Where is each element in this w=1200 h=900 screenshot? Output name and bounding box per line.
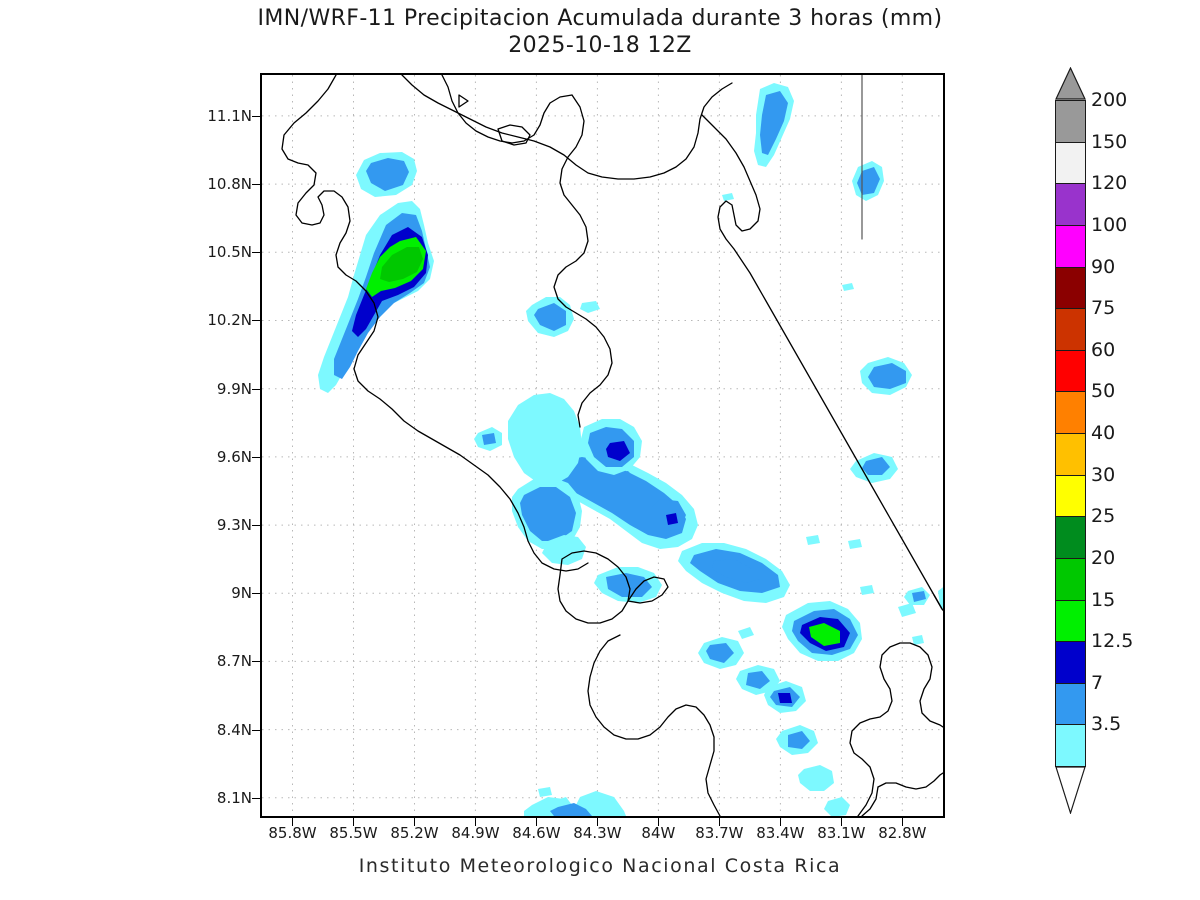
colorbar-band[interactable] — [1055, 225, 1086, 268]
y-axis-tick-label: 8.4N — [217, 721, 252, 739]
colorbar-band[interactable] — [1055, 308, 1086, 351]
precipitation-contours — [318, 83, 943, 816]
chart-title-block: IMN/WRF-11 Precipitacion Acumulada duran… — [0, 6, 1200, 58]
x-axis-tick-label: 83.7W — [695, 824, 743, 842]
colorbar-tick-label: 100 — [1091, 214, 1127, 236]
colorbar-band[interactable] — [1055, 683, 1086, 726]
colorbar-tick-label: 200 — [1091, 89, 1127, 111]
colorbar-band[interactable] — [1055, 142, 1086, 185]
y-axis-tick-mark — [252, 320, 260, 321]
y-axis-tick-mark — [252, 116, 260, 117]
y-axis-tick-mark — [252, 593, 260, 594]
colorbar-band[interactable] — [1055, 350, 1086, 393]
x-axis-tick-label: 84.9W — [451, 824, 499, 842]
y-axis-tick-mark — [252, 661, 260, 662]
source-attribution: Instituto Meteorologico Nacional Costa R… — [0, 855, 1200, 877]
colorbar-tick-label: 7 — [1091, 672, 1103, 694]
x-axis-tick-label: 85.2W — [390, 824, 438, 842]
colorbar-tick-label: 30 — [1091, 464, 1115, 486]
colorbar-tick-label: 90 — [1091, 256, 1115, 278]
y-axis-labels: 11.1N10.8N10.5N10.2N9.9N9.6N9.3N9N8.7N8.… — [196, 73, 252, 818]
x-axis-tick-label: 82.8W — [878, 824, 926, 842]
map-plot-area — [260, 73, 945, 818]
colorbar-band[interactable] — [1055, 516, 1086, 559]
colorbar-tick-label: 40 — [1091, 422, 1115, 444]
y-axis-tick-label: 11.1N — [207, 107, 252, 125]
y-axis-tick-label: 9.3N — [217, 516, 252, 534]
y-axis-tick-label: 9N — [231, 584, 252, 602]
x-axis-tick-label: 85.5W — [329, 824, 377, 842]
colorbar-band[interactable] — [1055, 433, 1086, 476]
colorbar-band[interactable] — [1055, 600, 1086, 643]
y-axis-tick-label: 8.7N — [217, 652, 252, 670]
colorbar-tick-label: 50 — [1091, 380, 1115, 402]
y-axis-tick-mark — [252, 184, 260, 185]
y-axis-tick-mark — [252, 457, 260, 458]
y-axis-tick-label: 10.5N — [207, 243, 252, 261]
y-axis-tick-mark — [252, 730, 260, 731]
y-axis-tick-label: 10.2N — [207, 311, 252, 329]
x-axis-labels: 85.8W85.5W85.2W84.9W84.6W84.3W84W83.7W83… — [260, 824, 945, 846]
x-axis-tick-label: 85.8W — [268, 824, 316, 842]
colorbar-tick-label: 120 — [1091, 172, 1127, 194]
y-axis-tick-label: 9.6N — [217, 448, 252, 466]
map-canvas — [262, 75, 943, 816]
colorbar-over-arrow — [1055, 67, 1086, 100]
x-axis-tick-mark — [902, 818, 903, 826]
colorbar-band[interactable] — [1055, 475, 1086, 518]
colorbar-under-arrow — [1055, 766, 1086, 814]
x-axis-tick-mark — [658, 818, 659, 826]
y-axis-tick-label: 10.8N — [207, 175, 252, 193]
colorbar-band[interactable] — [1055, 724, 1086, 767]
x-axis-tick-label: 84.6W — [512, 824, 560, 842]
x-axis-tick-mark — [536, 818, 537, 826]
y-axis-tick-label: 9.9N — [217, 380, 252, 398]
page-title: IMN/WRF-11 Precipitacion Acumulada duran… — [0, 6, 1200, 31]
colorbar-band[interactable] — [1055, 100, 1086, 143]
colorbar-band[interactable] — [1055, 267, 1086, 310]
colorbar-tick-label: 150 — [1091, 131, 1127, 153]
colorbar-tick-label: 20 — [1091, 547, 1115, 569]
colorbar-band[interactable] — [1055, 641, 1086, 684]
x-axis-tick-label: 83.4W — [756, 824, 804, 842]
colorbar-tick-label: 60 — [1091, 339, 1115, 361]
colorbar-tick-label: 25 — [1091, 505, 1115, 527]
x-axis-tick-mark — [353, 818, 354, 826]
y-axis-tick-mark — [252, 798, 260, 799]
colorbar-tick-label: 3.5 — [1091, 713, 1121, 735]
colorbar-band[interactable] — [1055, 391, 1086, 434]
y-axis-tick-mark — [252, 525, 260, 526]
colorbar-tick-label: 75 — [1091, 297, 1115, 319]
x-axis-tick-mark — [841, 818, 842, 826]
colorbar[interactable]: 3.5712.5152025304050607590100120150200 — [1055, 100, 1086, 766]
colorbar-tick-label: 15 — [1091, 589, 1115, 611]
x-axis-tick-mark — [597, 818, 598, 826]
y-axis-tick-mark — [252, 389, 260, 390]
precipitation-map — [262, 75, 943, 816]
colorbar-band[interactable] — [1055, 183, 1086, 226]
x-axis-tick-mark — [719, 818, 720, 826]
x-axis-tick-mark — [292, 818, 293, 826]
colorbar-tick-label: 12.5 — [1091, 630, 1133, 652]
chart-subtitle: 2025-10-18 12Z — [0, 33, 1200, 58]
x-axis-tick-mark — [780, 818, 781, 826]
x-axis-tick-label: 83.1W — [817, 824, 865, 842]
y-axis-tick-mark — [252, 252, 260, 253]
x-axis-tick-mark — [475, 818, 476, 826]
y-axis-tick-label: 8.1N — [217, 789, 252, 807]
colorbar-band[interactable] — [1055, 558, 1086, 601]
x-axis-tick-mark — [414, 818, 415, 826]
x-axis-tick-label: 84.3W — [573, 824, 621, 842]
x-axis-tick-label: 84W — [641, 824, 675, 842]
